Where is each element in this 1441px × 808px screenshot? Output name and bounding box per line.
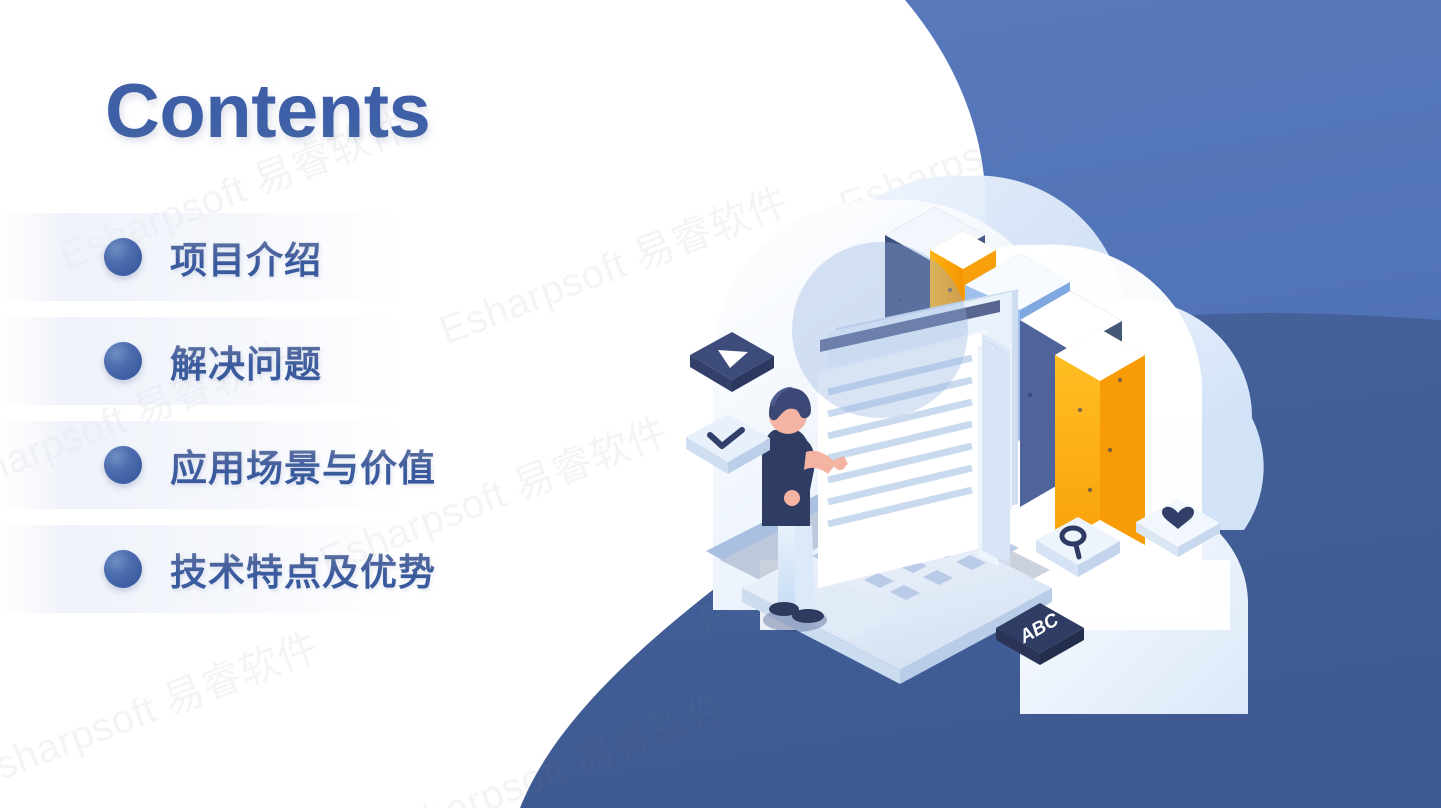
toc-item-label: 解决问题 <box>170 334 322 388</box>
table-of-contents-list: 项目介绍 解决问题 应用场景与价值 技术特点及优势 <box>0 205 620 621</box>
contents-pane: Contents 项目介绍 解决问题 应用场景与价值 技术特点及优势 <box>0 0 620 808</box>
toc-item-label: 应用场景与价值 <box>170 438 436 492</box>
page-title: Contents <box>105 68 430 155</box>
bullet-dot-icon <box>104 550 142 588</box>
toc-item-label: 项目介绍 <box>170 230 322 284</box>
toc-item-4[interactable]: 技术特点及优势 <box>0 517 620 621</box>
bullet-dot-icon <box>104 342 142 380</box>
bullet-dot-icon <box>104 446 142 484</box>
presentation-slide: ABC Esharpsoft 易睿软件 Esharpsoft 易睿软件 Esha… <box>0 0 1441 808</box>
bullet-dot-icon <box>104 238 142 276</box>
toc-item-2[interactable]: 解决问题 <box>0 309 620 413</box>
toc-item-1[interactable]: 项目介绍 <box>0 205 620 309</box>
toc-item-label: 技术特点及优势 <box>170 542 436 596</box>
toc-item-3[interactable]: 应用场景与价值 <box>0 413 620 517</box>
